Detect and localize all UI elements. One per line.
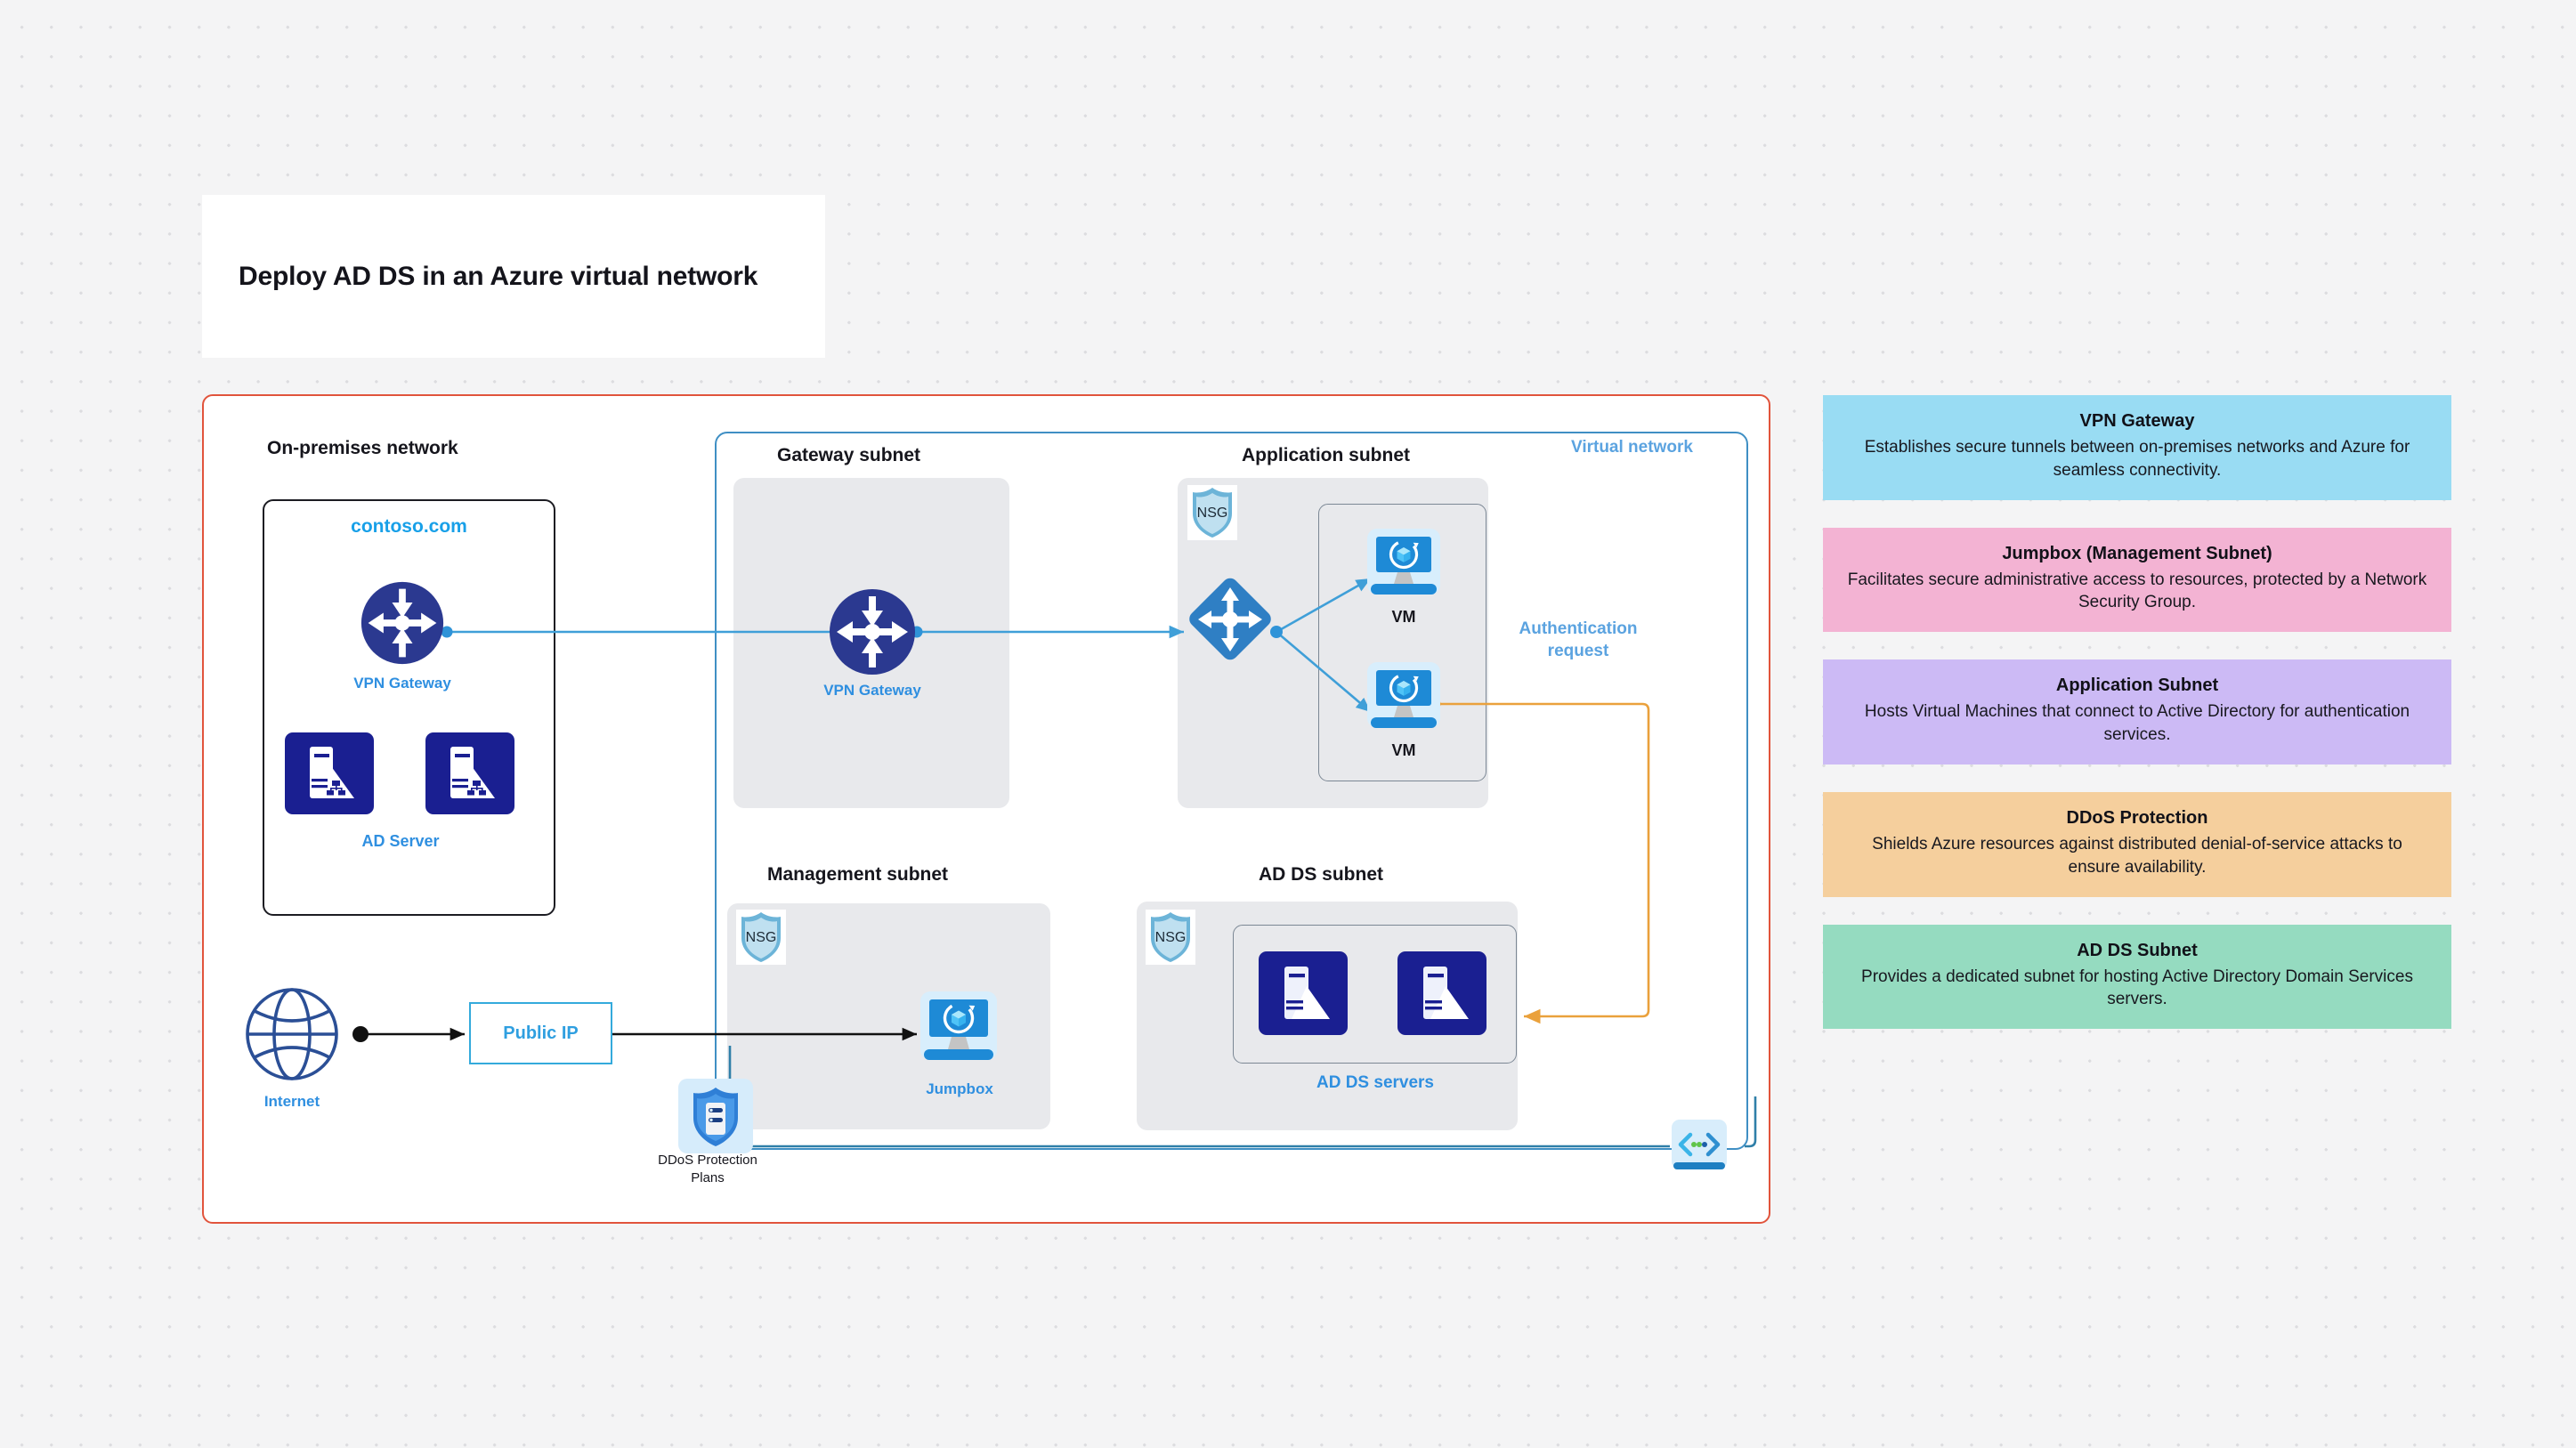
section-title-gateway-subnet: Gateway subnet: [777, 445, 920, 466]
vm-label-1: VM: [1359, 608, 1448, 627]
service-endpoint-code-icon: [1672, 1120, 1727, 1175]
legend-card-jumpbox: Jumpbox (Management Subnet) Facilitates …: [1823, 528, 2451, 633]
nsg-badge-adds-subnet: NSG: [1146, 910, 1195, 965]
section-title-application-subnet: Application subnet: [1242, 445, 1410, 466]
legend-card-description: Hosts Virtual Machines that connect to A…: [1846, 700, 2428, 747]
ddos-label-line2: Plans: [691, 1170, 725, 1185]
section-title-on-premises-network: On-premises network: [267, 438, 458, 459]
legend-card-title: Jumpbox (Management Subnet): [1846, 542, 2428, 565]
gateway-subnet-vpn-gateway-icon: [828, 587, 917, 676]
onprem-vpn-gateway-icon: [360, 580, 445, 666]
jumpbox-label: Jumpbox: [906, 1080, 1013, 1098]
adds-servers-label: AD DS servers: [1277, 1073, 1473, 1093]
gateway-subnet-vpn-gateway-label: VPN Gateway: [812, 682, 933, 700]
vm-label-2: VM: [1359, 741, 1448, 760]
virtual-network-label: Virtual network: [1571, 438, 1693, 457]
vm-icon-2: [1367, 662, 1440, 733]
nsg-badge-application-subnet: NSG: [1187, 485, 1237, 540]
legend-card-title: VPN Gateway: [1846, 409, 2428, 433]
legend-card-description: Shields Azure resources against distribu…: [1846, 833, 2428, 879]
legend-card-ddos-protection: DDoS Protection Shields Azure resources …: [1823, 792, 2451, 897]
contoso-domain-label: contoso.com: [264, 516, 554, 538]
ad-server-icon-2: [425, 732, 514, 814]
nsg-badge-text: NSG: [746, 930, 777, 945]
nsg-badge-management-subnet: NSG: [736, 910, 786, 965]
legend-card-application-subnet: Application Subnet Hosts Virtual Machine…: [1823, 659, 2451, 764]
adds-server-icon-1: [1259, 951, 1348, 1035]
legend-card-title: Application Subnet: [1846, 674, 2428, 697]
internet-globe-icon: [242, 984, 342, 1084]
ad-server-label: AD Server: [340, 832, 461, 851]
legend-panel: VPN Gateway Establishes secure tunnels b…: [1823, 395, 2451, 1056]
contoso-domain-box: contoso.com: [263, 499, 555, 916]
vm-icon-1: [1367, 529, 1440, 600]
authentication-request-label: Authentication request: [1494, 618, 1663, 662]
nsg-badge-text: NSG: [1197, 506, 1228, 521]
ad-server-icon-1: [285, 732, 374, 814]
ddos-protection-label: DDoS Protection Plans: [628, 1152, 788, 1187]
legend-card-title: DDoS Protection: [1846, 806, 2428, 829]
ddos-label-line1: DDoS Protection: [658, 1153, 757, 1168]
onprem-vpn-gateway-label: VPN Gateway: [342, 675, 463, 692]
internet-label: Internet: [239, 1093, 345, 1111]
legend-card-description: Provides a dedicated subnet for hosting …: [1846, 966, 2428, 1012]
section-title-management-subnet: Management subnet: [767, 864, 948, 886]
page-title: Deploy AD DS in an Azure virtual network: [239, 262, 757, 292]
legend-card-adds-subnet: AD DS Subnet Provides a dedicated subnet…: [1823, 925, 2451, 1030]
public-ip-box: Public IP: [469, 1002, 612, 1064]
legend-card-vpn-gateway: VPN Gateway Establishes secure tunnels b…: [1823, 395, 2451, 500]
legend-card-title: AD DS Subnet: [1846, 939, 2428, 962]
public-ip-label: Public IP: [503, 1023, 578, 1044]
adds-server-icon-2: [1397, 951, 1486, 1035]
section-title-adds-subnet: AD DS subnet: [1259, 864, 1383, 886]
ddos-protection-icon: [678, 1079, 753, 1153]
jumpbox-icon: [920, 991, 997, 1066]
legend-card-description: Facilitates secure administrative access…: [1846, 569, 2428, 615]
legend-card-description: Establishes secure tunnels between on-pr…: [1846, 436, 2428, 482]
load-balancer-icon: [1184, 573, 1276, 666]
nsg-badge-text: NSG: [1155, 930, 1187, 945]
title-card: Deploy AD DS in an Azure virtual network: [202, 195, 825, 358]
